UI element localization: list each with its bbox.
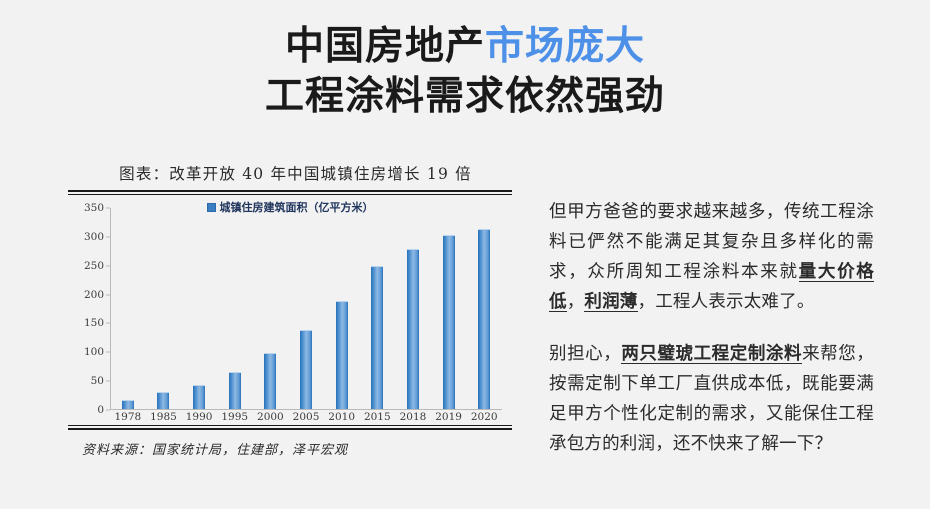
headline-line-1: 中国房地产市场庞大 <box>0 22 930 72</box>
bar-cell <box>253 208 289 409</box>
bar-group <box>110 208 502 409</box>
chart-plot-area: 城镇住房建筑面积（亿平方米） 050100150200250300350 197… <box>68 195 512 423</box>
y-axis-tick-label: 100 <box>70 346 104 358</box>
marketing-text-column: 但甲方爸爸的要求越来越多，传统工程涂料已俨然不能满足其复杂且多样化的需求，众所周… <box>549 150 874 476</box>
y-axis-tick-label: 150 <box>70 317 104 329</box>
bar-2020 <box>478 229 490 409</box>
headline-plain-text: 中国房地产 <box>285 25 485 68</box>
paragraph-2: 别担心，两只璧琥工程定制涂料来帮您，按需定制下单工厂直供成本低，既能要满足甲方个… <box>549 338 874 458</box>
bar-cell <box>110 208 146 409</box>
bar-cell <box>431 208 467 409</box>
bar-cell <box>359 208 395 409</box>
bar-2005 <box>300 330 312 409</box>
bar-1990 <box>193 385 205 409</box>
x-axis-line <box>110 409 502 410</box>
x-axis-tick-label: 1990 <box>181 411 217 423</box>
chart-card: 图表：改革开放 40 年中国城镇住房增长 19 倍 城镇住房建筑面积（亿平方米）… <box>68 150 523 458</box>
x-axis-tick-label: 2005 <box>288 411 324 423</box>
x-axis-tick-label: 2020 <box>466 411 502 423</box>
bar-2019 <box>443 235 455 409</box>
chart-source-note: 资料来源：国家统计局，住建部，泽平宏观 <box>68 430 523 458</box>
bar-2010 <box>336 301 348 409</box>
bar-cell <box>181 208 217 409</box>
p2-emphasis-1: 两只璧琥工程定制涂料 <box>621 343 802 364</box>
headline-accent-text: 市场庞大 <box>485 25 645 68</box>
content-body: 图表：改革开放 40 年中国城镇住房增长 19 倍 城镇住房建筑面积（亿平方米）… <box>0 150 930 509</box>
x-axis-tick-label: 2010 <box>324 411 360 423</box>
bar-2000 <box>264 353 276 409</box>
chart-axes: 050100150200250300350 <box>110 208 502 410</box>
p2-segment-1: 别担心， <box>549 343 621 363</box>
x-axis-label-group: 1978198519901995200020052010201520182019… <box>110 411 502 423</box>
chart-title: 图表：改革开放 40 年中国城镇住房增长 19 倍 <box>68 150 523 190</box>
y-axis-tick-label: 300 <box>70 231 104 243</box>
bar-cell <box>324 208 360 409</box>
bar-1995 <box>229 372 241 409</box>
bar-cell <box>395 208 431 409</box>
y-axis-tick-label: 350 <box>70 202 104 214</box>
x-axis-tick-label: 2015 <box>359 411 395 423</box>
headline-line-2: 工程涂料需求依然强劲 <box>0 72 930 122</box>
bar-cell <box>146 208 182 409</box>
p1-emphasis-2: 利润薄 <box>584 291 637 312</box>
paragraph-1: 但甲方爸爸的要求越来越多，传统工程涂料已俨然不能满足其复杂且多样化的需求，众所周… <box>549 196 874 316</box>
bar-cell <box>466 208 502 409</box>
headline-block: 中国房地产市场庞大 工程涂料需求依然强劲 <box>0 0 930 122</box>
y-axis-tick-label: 50 <box>70 375 104 387</box>
bar-2018 <box>407 249 419 409</box>
x-axis-tick-label: 2018 <box>395 411 431 423</box>
bar-cell <box>217 208 253 409</box>
y-axis-tick-label: 0 <box>70 404 104 416</box>
bar-1978 <box>122 400 134 409</box>
x-axis-tick-label: 1995 <box>217 411 253 423</box>
bar-2015 <box>371 266 383 409</box>
y-axis-tick-label: 250 <box>70 260 104 272</box>
y-axis-tick-label: 200 <box>70 289 104 301</box>
bar-cell <box>288 208 324 409</box>
p1-segment-3: ，工程人表示太难了。 <box>638 291 815 311</box>
x-axis-tick-label: 1978 <box>110 411 146 423</box>
bar-1985 <box>157 392 169 409</box>
x-axis-tick-label: 1985 <box>146 411 182 423</box>
p1-segment-2: ， <box>567 291 585 311</box>
x-axis-tick-label: 2019 <box>431 411 467 423</box>
x-axis-tick-label: 2000 <box>253 411 289 423</box>
